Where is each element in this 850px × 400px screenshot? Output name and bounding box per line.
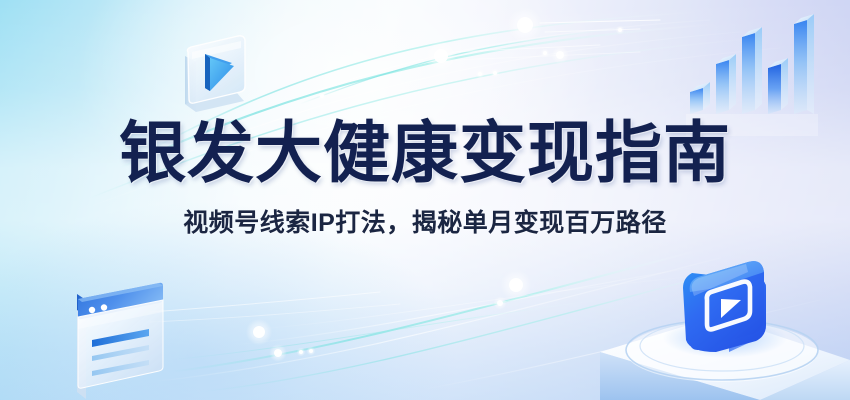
window-dot bbox=[89, 307, 95, 313]
glow-dot-halo bbox=[246, 319, 272, 345]
page-title: 银发大健康变现指南 bbox=[0, 118, 850, 189]
video-icon bbox=[683, 261, 766, 352]
doc-line bbox=[92, 345, 149, 361]
glow-dot bbox=[309, 349, 313, 353]
glow-dot bbox=[509, 278, 523, 292]
glow-dot-halo bbox=[426, 41, 457, 72]
glow-dot bbox=[517, 17, 533, 33]
bar-item bbox=[768, 58, 788, 114]
glow-dot-halo bbox=[616, 26, 625, 35]
glow-dot bbox=[618, 28, 622, 32]
podium bbox=[600, 316, 850, 400]
glow-dot-halo bbox=[551, 46, 569, 64]
window-dot bbox=[101, 304, 107, 310]
glow-dot bbox=[556, 51, 564, 59]
glow-dot bbox=[543, 51, 547, 55]
glow-dot-halo bbox=[318, 92, 327, 101]
bar-item bbox=[690, 82, 710, 114]
glow-dot bbox=[274, 349, 282, 357]
glow-dot bbox=[299, 350, 303, 354]
glow-dot bbox=[478, 72, 482, 76]
glow-dot bbox=[253, 326, 265, 338]
glow-dot-halo bbox=[501, 270, 532, 301]
glow-dot-halo bbox=[493, 296, 506, 309]
glow-dot bbox=[320, 94, 324, 98]
document-card-icon bbox=[77, 283, 163, 399]
glow-dot bbox=[493, 71, 497, 75]
promo-banner: 银发大健康变现指南 视频号线索IP打法，揭秘单月变现百万路径 bbox=[0, 0, 850, 400]
glow-dot bbox=[434, 49, 448, 63]
glow-dot-halo bbox=[507, 7, 542, 42]
glow-dot-halo bbox=[297, 348, 306, 357]
bar-item bbox=[716, 54, 736, 114]
bar-item bbox=[794, 14, 814, 114]
bar-item bbox=[742, 27, 762, 114]
banner-text-block: 银发大健康变现指南 视频号线索IP打法，揭秘单月变现百万路径 bbox=[0, 118, 850, 239]
doc-line bbox=[92, 360, 149, 376]
play-card-icon bbox=[185, 36, 245, 112]
streak-bundle-lower bbox=[150, 250, 820, 392]
glow-dot-halo bbox=[269, 344, 287, 362]
doc-line bbox=[92, 329, 149, 347]
glow-dot bbox=[497, 300, 503, 306]
glow-dot-halo bbox=[307, 347, 316, 356]
glow-dot-halo bbox=[491, 69, 500, 78]
glow-dot-halo bbox=[541, 49, 550, 58]
glow-dot-halo bbox=[476, 70, 485, 79]
page-subtitle: 视频号线索IP打法，揭秘单月变现百万路径 bbox=[0, 203, 850, 239]
